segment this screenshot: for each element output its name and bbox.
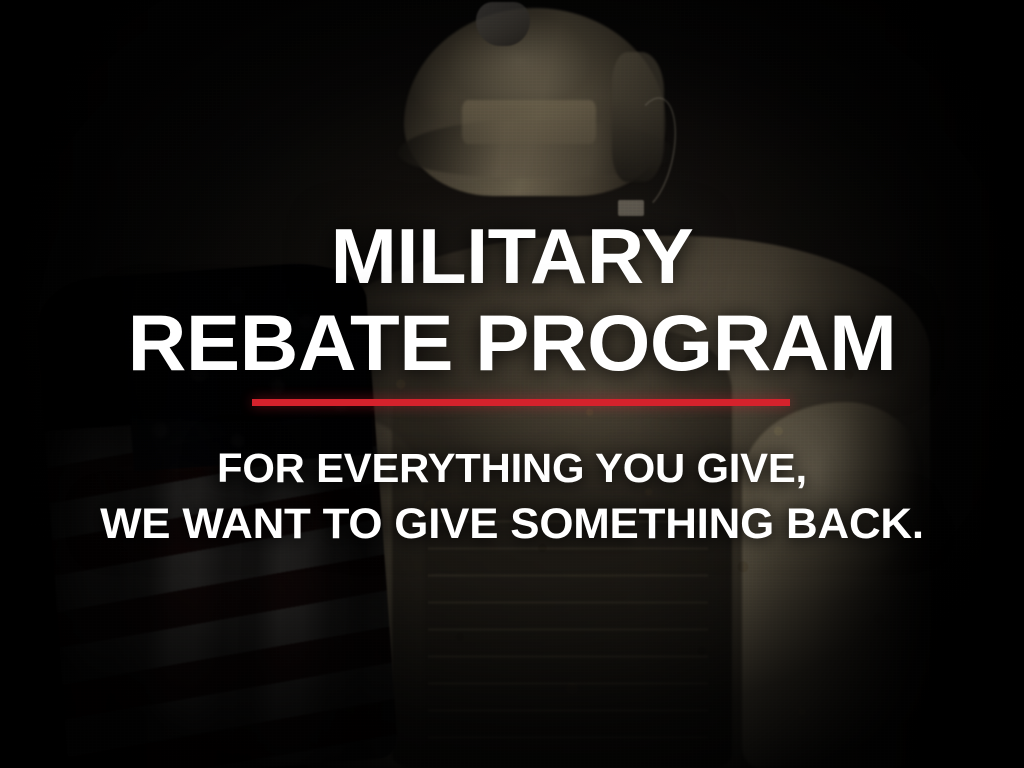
- subhead-line-2: WE WANT TO GIVE SOMETHING BACK.: [0, 503, 1024, 546]
- red-divider-rule: [252, 399, 790, 406]
- headline-line-1: MILITARY: [0, 219, 1024, 294]
- text-overlay: MILITARY REBATE PROGRAM FOR EVERYTHING Y…: [0, 0, 1024, 768]
- headline-line-2: REBATE PROGRAM: [0, 305, 1024, 381]
- promotional-slide: MILITARY REBATE PROGRAM FOR EVERYTHING Y…: [0, 0, 1024, 768]
- subhead-line-1: FOR EVERYTHING YOU GIVE,: [0, 448, 1024, 489]
